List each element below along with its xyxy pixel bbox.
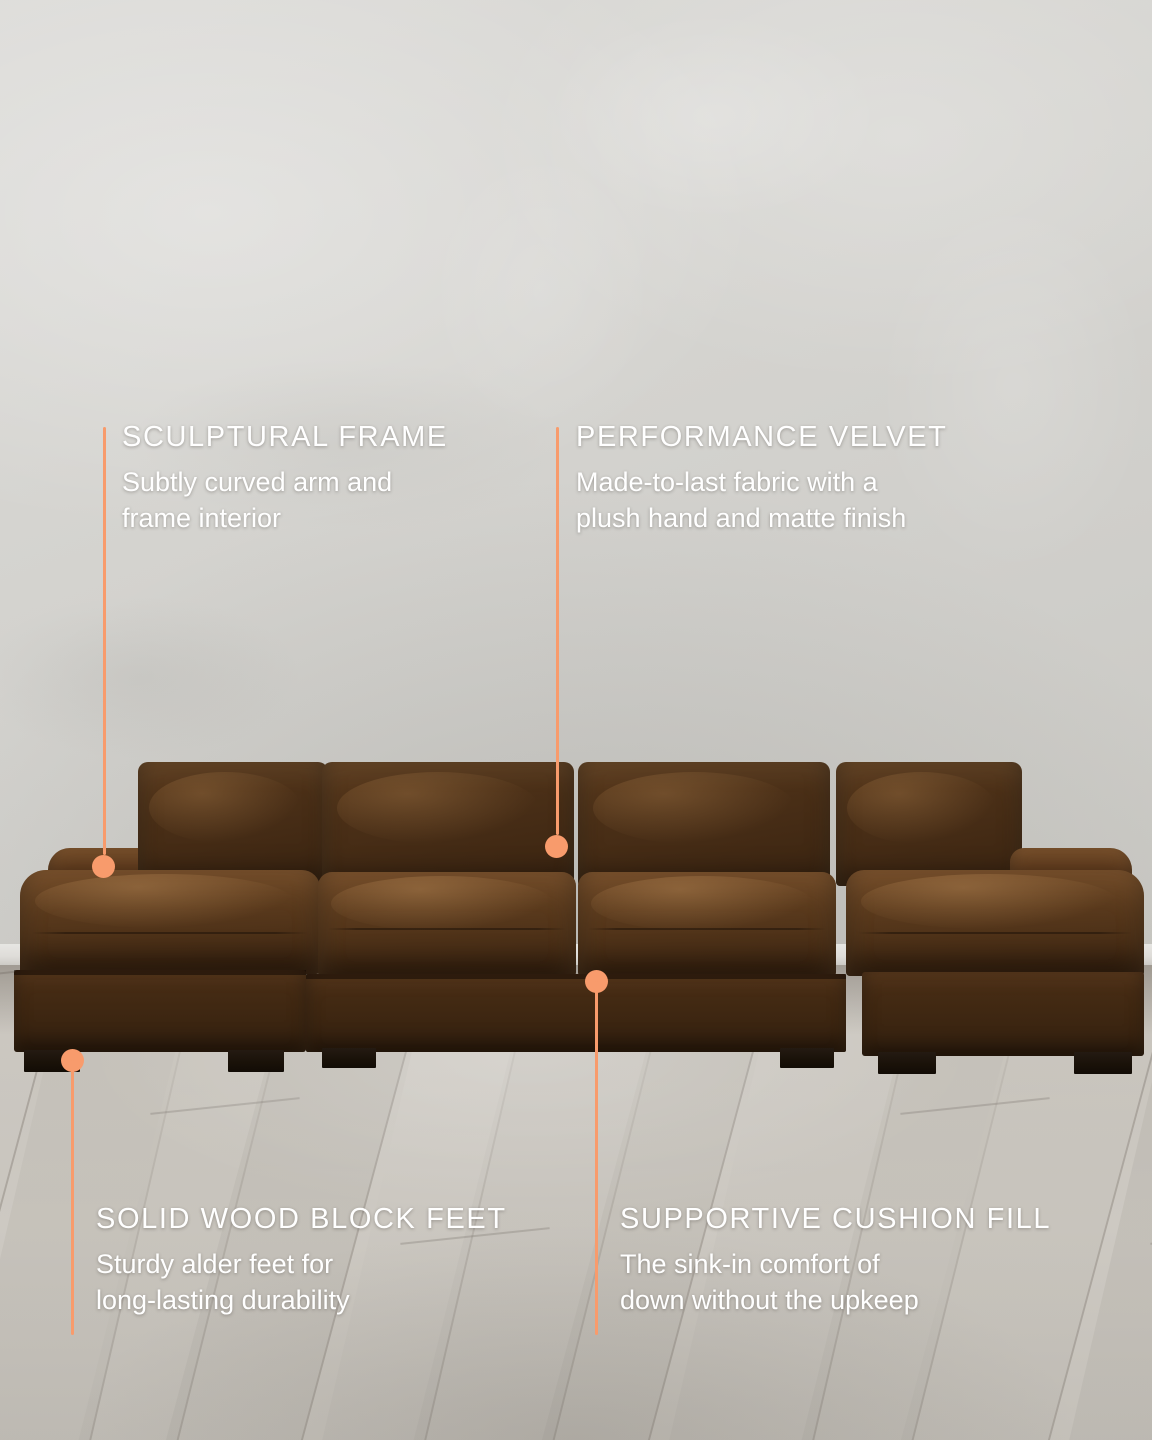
sofa-back-cushion-right xyxy=(836,762,1022,886)
sofa-foot xyxy=(322,1048,376,1068)
sofa-base-center xyxy=(306,974,846,1052)
cushion-seam xyxy=(328,928,565,930)
sofa-foot xyxy=(1074,1052,1132,1074)
sofa-foot xyxy=(228,1050,284,1072)
base-edge xyxy=(14,970,306,975)
callout-sculptural-frame: SCULPTURAL FRAME Subtly curved arm and f… xyxy=(122,420,552,536)
sofa-base-left xyxy=(14,970,306,1052)
callout-leader-line-sculptural-frame xyxy=(103,427,106,855)
callout-body: Made-to-last fabric with a plush hand an… xyxy=(576,464,1016,536)
sofa-seat-cushion-center-right xyxy=(578,872,836,978)
callout-leader-line-supportive-cushion-fill xyxy=(595,981,598,1335)
cushion-sheen xyxy=(337,772,539,844)
cushion-sheen xyxy=(331,876,553,931)
cushion-sheen xyxy=(591,876,813,931)
sofa-back-cushion-left xyxy=(138,762,328,884)
callout-body: Subtly curved arm and frame interior xyxy=(122,464,552,536)
cushion-sheen xyxy=(847,772,996,844)
callout-body: Sturdy alder feet for long-lasting durab… xyxy=(96,1246,556,1318)
sofa-seat-right-chaise xyxy=(846,870,1144,976)
cushion-seam xyxy=(32,932,308,934)
sectional-sofa xyxy=(0,740,1152,1070)
callout-title: PERFORMANCE VELVET xyxy=(576,420,1016,454)
cushion-sheen xyxy=(861,874,1117,929)
sofa-foot xyxy=(780,1048,834,1068)
callout-body-line: Sturdy alder feet for xyxy=(96,1246,556,1282)
product-feature-callout-image: SCULPTURAL FRAME Subtly curved arm and f… xyxy=(0,0,1152,1440)
sofa-foot xyxy=(878,1052,936,1074)
callout-body-line: The sink-in comfort of xyxy=(620,1246,1090,1282)
sofa-base-right xyxy=(862,972,1144,1056)
callout-solid-wood-block-feet: SOLID WOOD BLOCK FEET Sturdy alder feet … xyxy=(96,1202,556,1318)
callout-title: SCULPTURAL FRAME xyxy=(122,420,552,454)
sofa-back-cushion-center-left xyxy=(322,762,574,886)
callout-body-line: Made-to-last fabric with a xyxy=(576,464,1016,500)
callout-title: SUPPORTIVE CUSHION FILL xyxy=(620,1202,1090,1236)
base-edge xyxy=(306,974,846,979)
cushion-sheen xyxy=(593,772,795,844)
callout-body-line: Subtly curved arm and xyxy=(122,464,552,500)
sofa-seat-left-chaise xyxy=(20,870,320,974)
sofa-back-cushion-center-right xyxy=(578,762,830,886)
callout-body-line: down without the upkeep xyxy=(620,1282,1090,1318)
callout-marker-dot-performance-velvet[interactable] xyxy=(545,835,568,858)
callout-body-line: frame interior xyxy=(122,500,552,536)
cushion-seam xyxy=(858,932,1132,934)
callout-leader-line-performance-velvet xyxy=(556,427,559,835)
callout-body-line: plush hand and matte finish xyxy=(576,500,1016,536)
sofa-seat-cushion-center-left xyxy=(318,872,576,978)
callout-body-line: long-lasting durability xyxy=(96,1282,556,1318)
cushion-seam xyxy=(588,928,825,930)
callout-performance-velvet: PERFORMANCE VELVET Made-to-last fabric w… xyxy=(576,420,1016,536)
callout-leader-line-solid-wood-block-feet xyxy=(71,1060,74,1335)
cushion-sheen xyxy=(35,874,293,928)
callout-marker-dot-sculptural-frame[interactable] xyxy=(92,855,115,878)
callout-supportive-cushion-fill: SUPPORTIVE CUSHION FILL The sink-in comf… xyxy=(620,1202,1090,1318)
callout-body: The sink-in comfort of down without the … xyxy=(620,1246,1090,1318)
cushion-sheen xyxy=(149,772,301,843)
callout-title: SOLID WOOD BLOCK FEET xyxy=(96,1202,556,1236)
